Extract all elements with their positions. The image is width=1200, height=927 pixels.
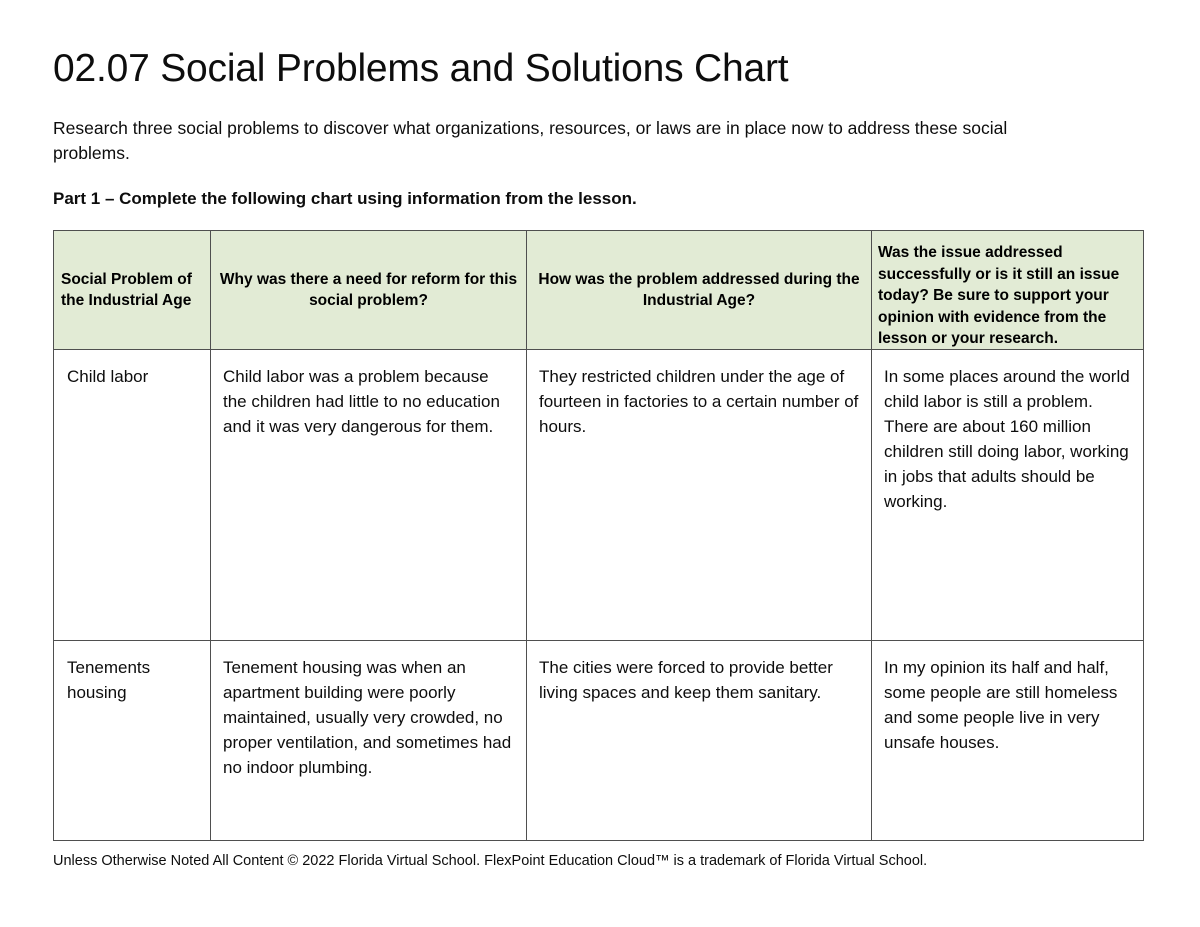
- cell-still-an-issue-text: In some places around the world child la…: [872, 350, 1143, 526]
- cell-addressed-during-text: The cities were forced to provide better…: [527, 641, 871, 717]
- copyright-footer: Unless Otherwise Noted All Content © 202…: [53, 852, 927, 871]
- column-header-still-an-issue-label: Was the issue addressed successfully or …: [872, 231, 1143, 349]
- social-problems-table: Social Problem of the Industrial Age Why…: [53, 230, 1144, 841]
- column-header-need-for-reform-label: Why was there a need for reform for this…: [211, 231, 526, 349]
- cell-need-for-reform[interactable]: Child labor was a problem because the ch…: [211, 350, 527, 641]
- document-page: 02.07 Social Problems and Solutions Char…: [0, 0, 1200, 927]
- cell-addressed-during[interactable]: The cities were forced to provide better…: [527, 641, 872, 841]
- cell-need-for-reform-text: Child labor was a problem because the ch…: [211, 350, 526, 451]
- cell-need-for-reform[interactable]: Tenement housing was when an apartment b…: [211, 641, 527, 841]
- cell-need-for-reform-text: Tenement housing was when an apartment b…: [211, 641, 526, 792]
- cell-addressed-during[interactable]: They restricted children under the age o…: [527, 350, 872, 641]
- table-body: Child labor Child labor was a problem be…: [54, 350, 1144, 841]
- cell-problem-text: Child labor: [54, 350, 210, 401]
- cell-problem[interactable]: Child labor: [54, 350, 211, 641]
- cell-still-an-issue[interactable]: In some places around the world child la…: [872, 350, 1144, 641]
- document-content: 02.07 Social Problems and Solutions Char…: [53, 46, 1147, 841]
- table-header-row: Social Problem of the Industrial Age Why…: [54, 231, 1144, 350]
- cell-problem-text: Tenements housing: [54, 641, 210, 717]
- column-header-social-problem-label: Social Problem of the Industrial Age: [54, 231, 210, 349]
- column-header-need-for-reform: Why was there a need for reform for this…: [211, 231, 527, 350]
- table-row: Child labor Child labor was a problem be…: [54, 350, 1144, 641]
- table-row: Tenements housing Tenement housing was w…: [54, 641, 1144, 841]
- intro-paragraph: Research three social problems to discov…: [53, 116, 1083, 166]
- column-header-social-problem: Social Problem of the Industrial Age: [54, 231, 211, 350]
- part-1-heading: Part 1 – Complete the following chart us…: [53, 188, 1147, 210]
- table-header: Social Problem of the Industrial Age Why…: [54, 231, 1144, 350]
- cell-still-an-issue[interactable]: In my opinion its half and half, some pe…: [872, 641, 1144, 841]
- cell-problem[interactable]: Tenements housing: [54, 641, 211, 841]
- cell-addressed-during-text: They restricted children under the age o…: [527, 350, 871, 451]
- cell-still-an-issue-text: In my opinion its half and half, some pe…: [872, 641, 1143, 767]
- page-title: 02.07 Social Problems and Solutions Char…: [53, 46, 1147, 92]
- column-header-still-an-issue: Was the issue addressed successfully or …: [872, 231, 1144, 350]
- column-header-addressed-during-label: How was the problem addressed during the…: [527, 231, 871, 349]
- column-header-addressed-during: How was the problem addressed during the…: [527, 231, 872, 350]
